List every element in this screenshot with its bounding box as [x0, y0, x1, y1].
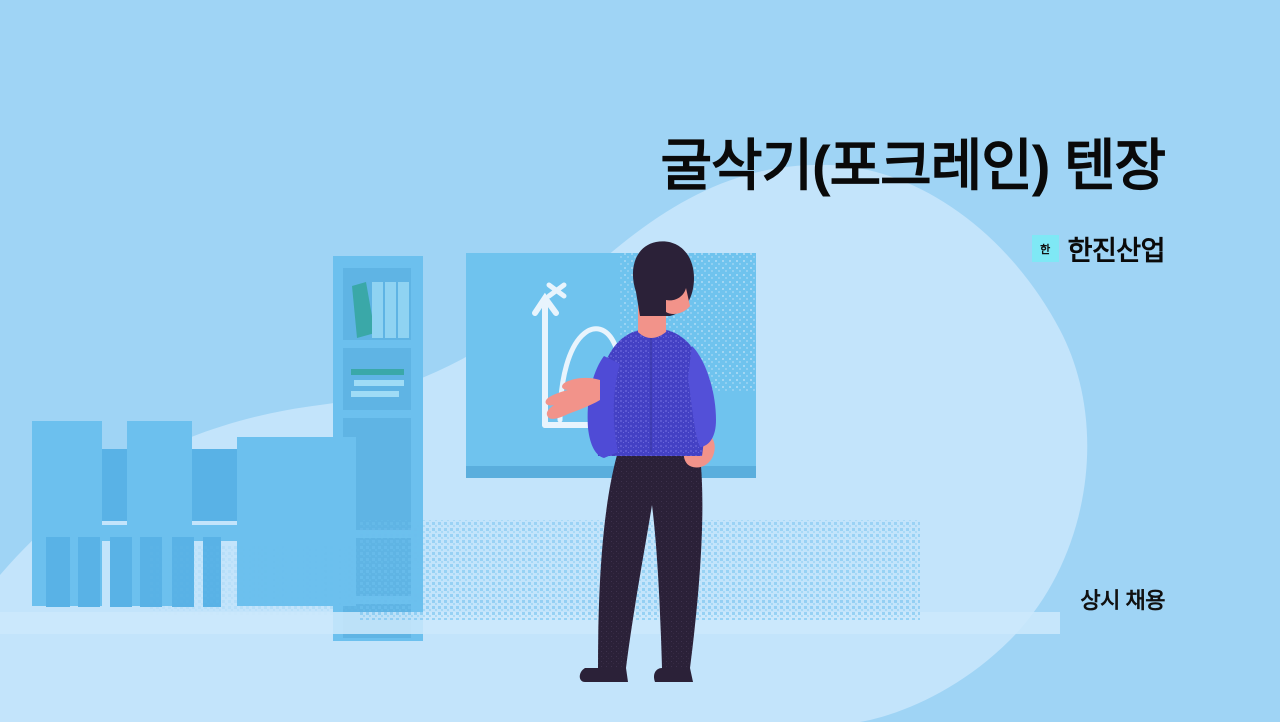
company-name: 한진산업	[1068, 229, 1165, 268]
page-title: 굴삭기(포크레인) 텐장	[0, 136, 1165, 196]
radiator-cabinet	[32, 421, 410, 615]
shoe-left	[580, 668, 628, 682]
status-badge: 상시 채용	[1080, 583, 1165, 615]
job-poster: 굴삭기(포크레인) 텐장 한 한진산업 상시 채용	[0, 0, 1280, 722]
company-badge-icon: 한	[1032, 235, 1059, 262]
shoe-right	[654, 668, 693, 682]
books-stacked	[351, 369, 404, 397]
books-upright	[352, 282, 409, 338]
company-row: 한 한진산업	[1032, 229, 1165, 268]
